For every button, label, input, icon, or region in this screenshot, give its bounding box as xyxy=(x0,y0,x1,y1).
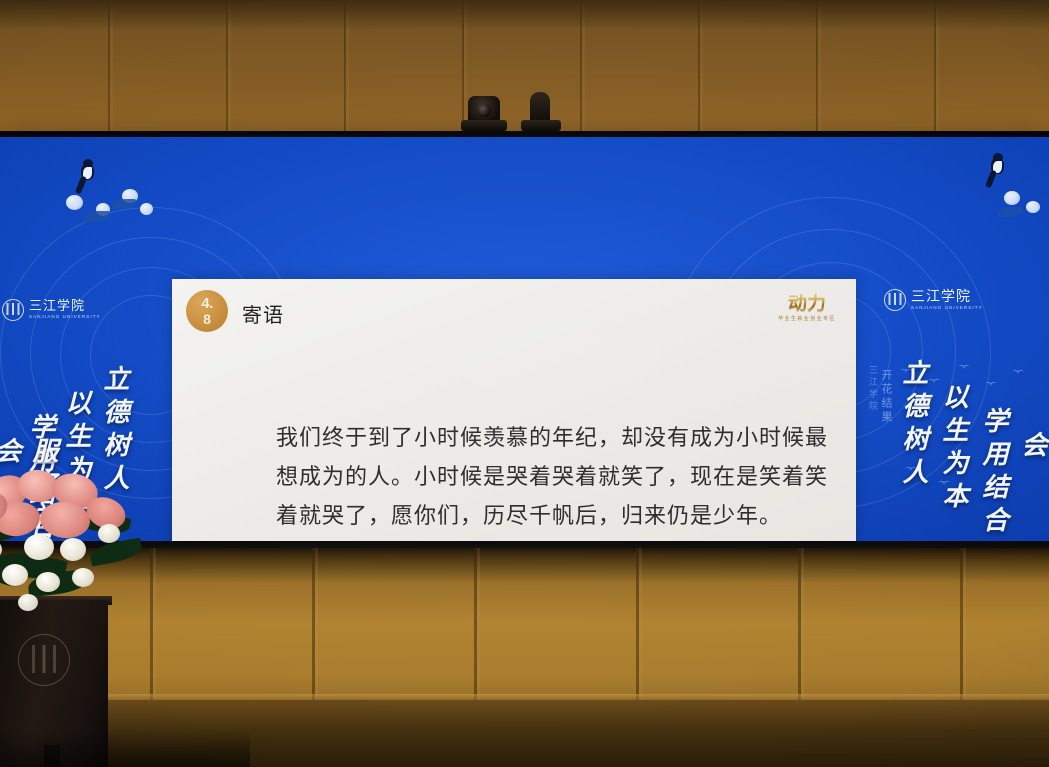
stage-photo: 三江学院 SANJIANG UNIVERSITY 三江学院 SANJIANG U… xyxy=(0,0,1049,767)
